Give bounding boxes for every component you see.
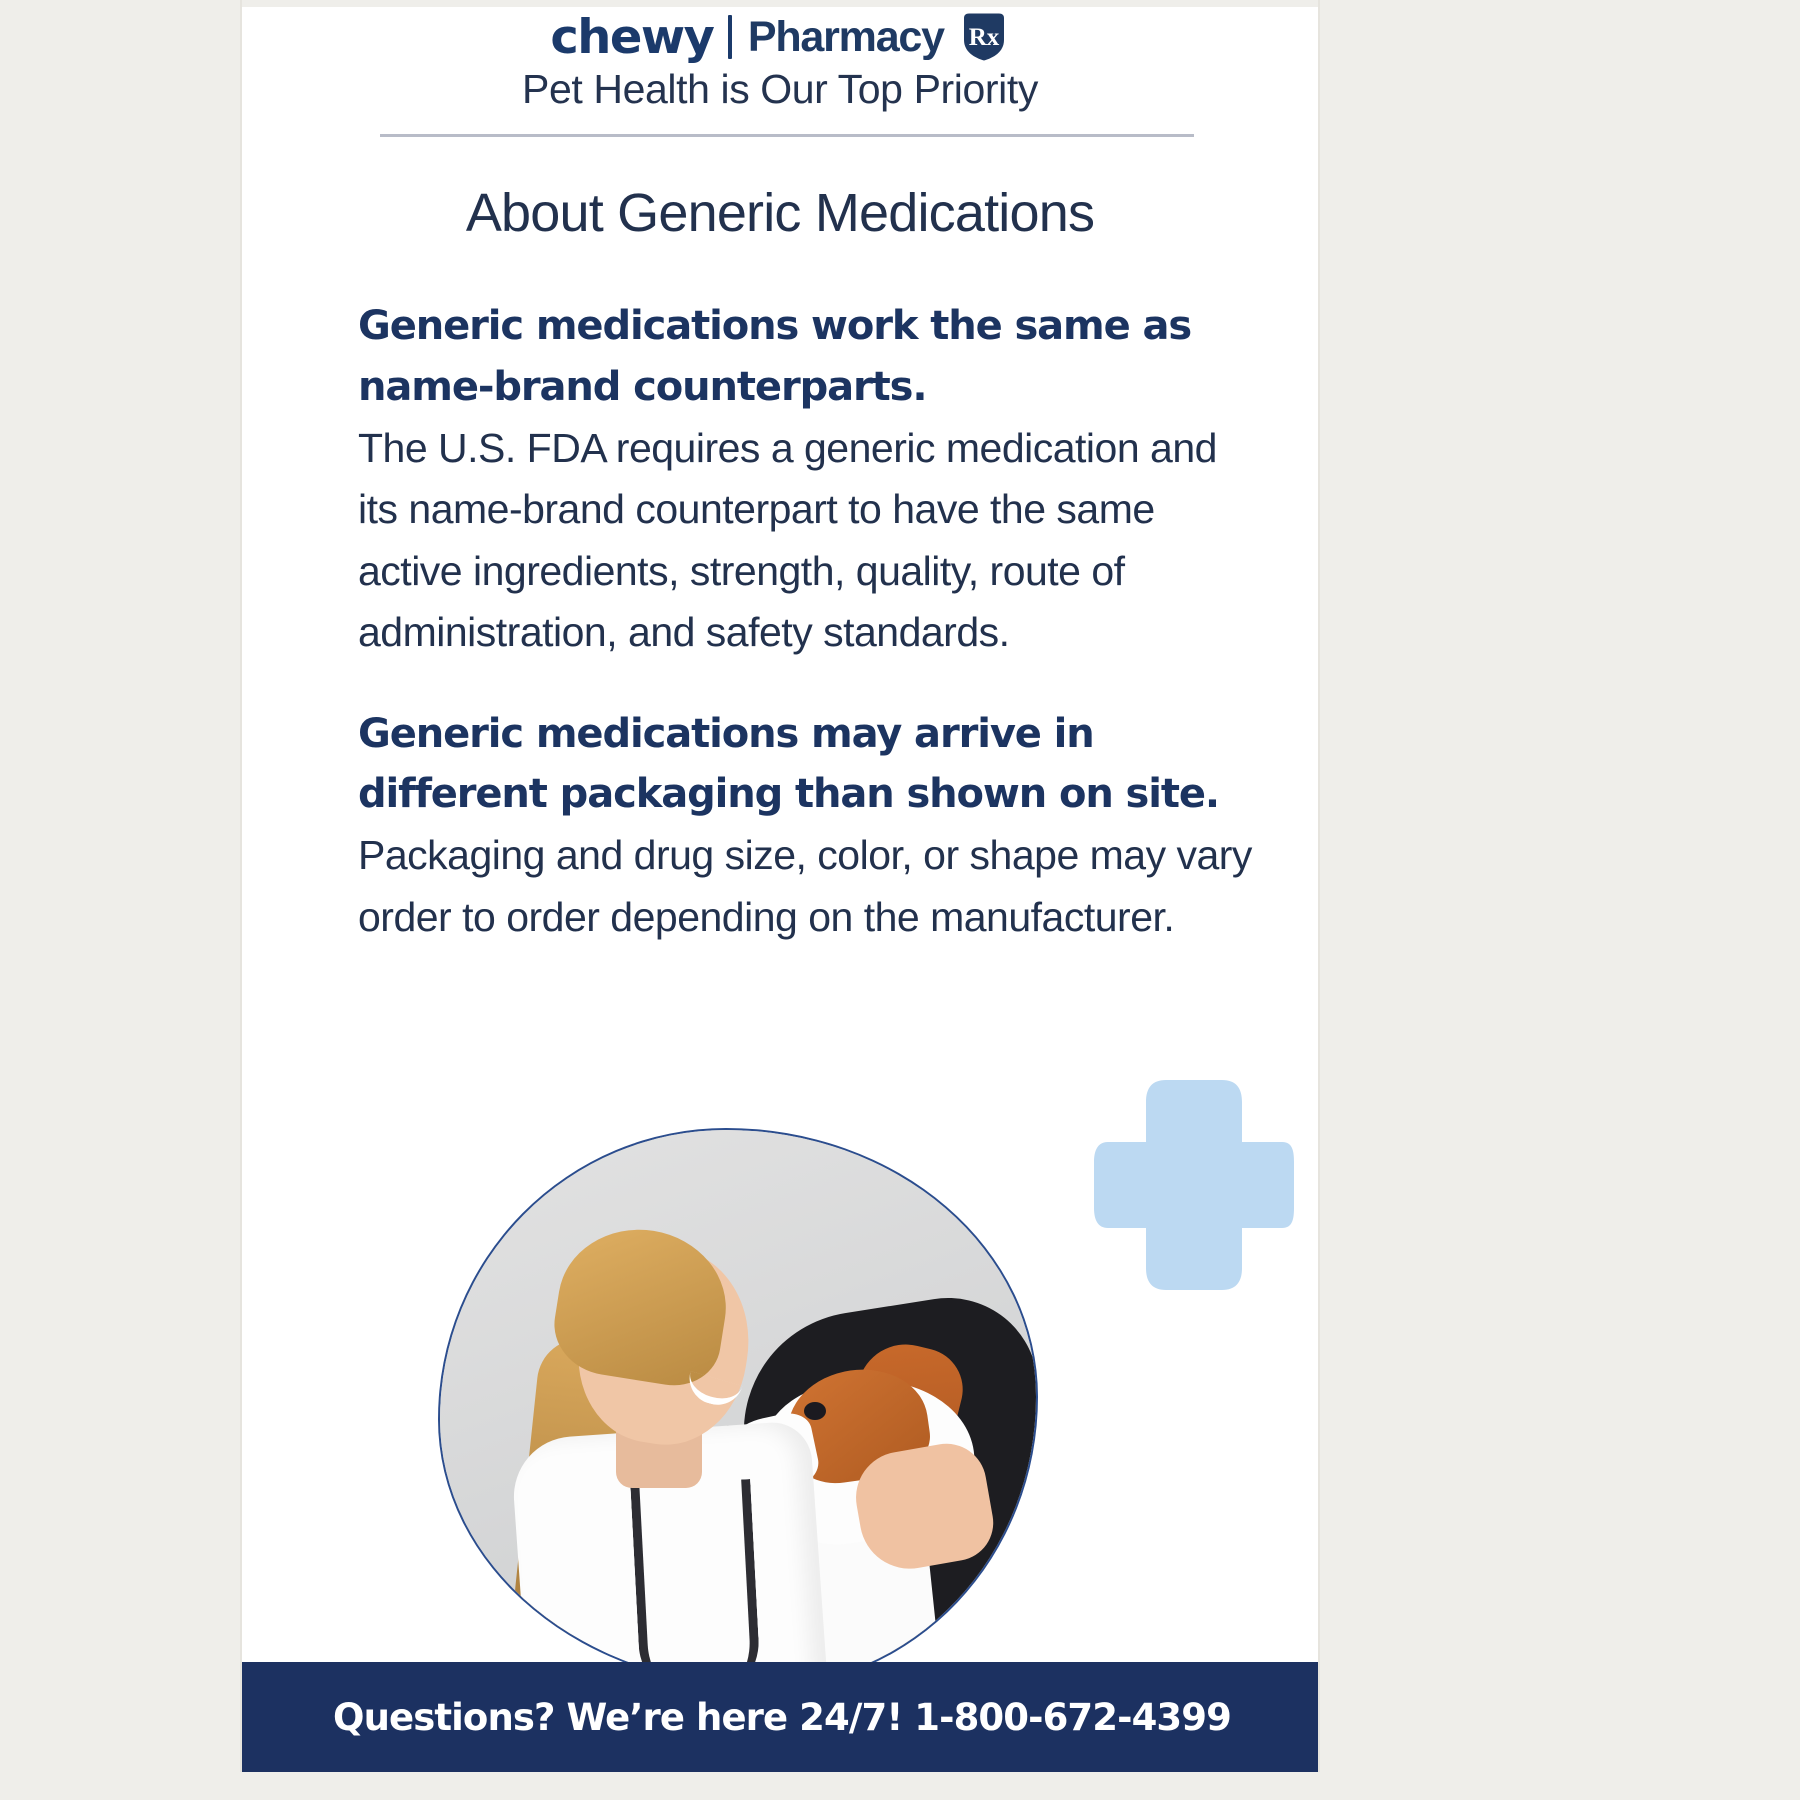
contact-footer-bar[interactable]: Questions? We’re here 24/7! 1-800-672-43… xyxy=(242,1662,1320,1772)
medical-plus-icon xyxy=(1094,1080,1294,1290)
content-block: Generic medications work the same as nam… xyxy=(358,296,1258,664)
block-lead: Generic medications work the same as nam… xyxy=(358,296,1258,418)
chewy-logo[interactable]: chewy xyxy=(551,14,714,61)
stethoscope-icon xyxy=(630,1479,761,1688)
rx-shield-icon: Rx xyxy=(960,12,1008,62)
brand-lockup: chewy Pharmacy Rx xyxy=(242,12,1318,62)
bottom-strip xyxy=(240,1772,1320,1800)
hero-image-area xyxy=(242,1070,1320,1690)
dog-eye xyxy=(804,1402,826,1420)
content-card: chewy Pharmacy Rx Pet Health is Our Top … xyxy=(240,0,1320,1780)
block-lead: Generic medications may arrive in differ… xyxy=(358,704,1258,826)
footer-contact-text[interactable]: Questions? We’re here 24/7! 1-800-672-43… xyxy=(333,1696,1231,1739)
pharmacy-label: Pharmacy xyxy=(748,16,944,59)
svg-text:Rx: Rx xyxy=(969,24,1000,51)
body-copy: Generic medications work the same as nam… xyxy=(358,296,1258,948)
top-strip xyxy=(242,0,1318,7)
page-title: About Generic Medications xyxy=(242,182,1318,244)
block-paragraph: Packaging and drug size, color, or shape… xyxy=(358,825,1258,948)
header-divider xyxy=(380,134,1194,137)
tagline: Pet Health is Our Top Priority xyxy=(242,66,1318,113)
content-block: Generic medications may arrive in differ… xyxy=(358,704,1258,949)
block-paragraph: The U.S. FDA requires a generic medicati… xyxy=(358,418,1258,664)
brand-divider-icon xyxy=(728,15,732,59)
page-background: chewy Pharmacy Rx Pet Health is Our Top … xyxy=(0,0,1800,1800)
vet-and-dog-photo xyxy=(438,1128,1038,1688)
